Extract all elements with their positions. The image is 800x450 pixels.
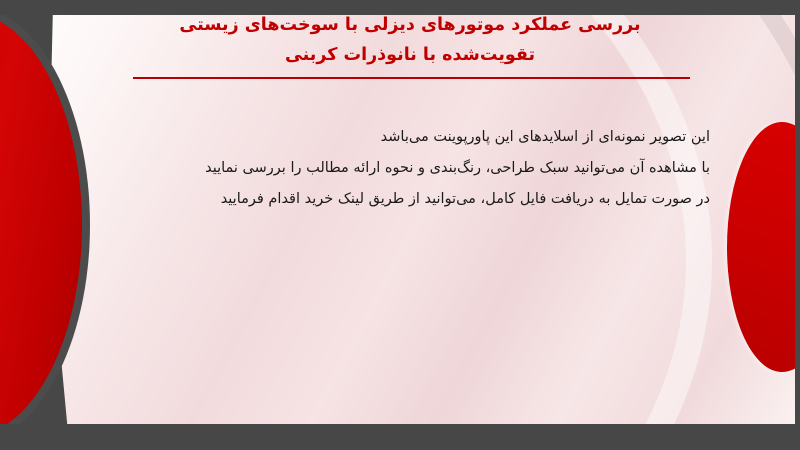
bottom-dark-band [0,424,800,450]
body-line-1: این تصویر نمونه‌ای از اسلایدهای این پاور… [70,122,710,153]
title-line-2: تقویت‌شده با نانوذرات کربنی [120,40,700,70]
right-decoration-region [715,14,795,424]
body-line-3: در صورت تمایل به دریافت فایل کامل، می‌تو… [70,184,710,215]
left-decoration-region [0,0,130,450]
presentation-slide: بررسی عملکرد موتورهای دیزلی با سوخت‌های … [0,0,800,450]
red-ellipse-shape [727,122,795,372]
page-title: بررسی عملکرد موتورهای دیزلی با سوخت‌های … [120,10,700,70]
body-line-2: با مشاهده آن می‌توانید سبک طراحی، رنگ‌بن… [70,153,710,184]
red-lens-shape [0,12,82,438]
right-dark-band [795,0,800,450]
title-divider-rule [133,77,690,79]
slide-body-text: این تصویر نمونه‌ای از اسلایدهای این پاور… [70,122,710,215]
title-line-1: بررسی عملکرد موتورهای دیزلی با سوخت‌های … [120,10,700,40]
